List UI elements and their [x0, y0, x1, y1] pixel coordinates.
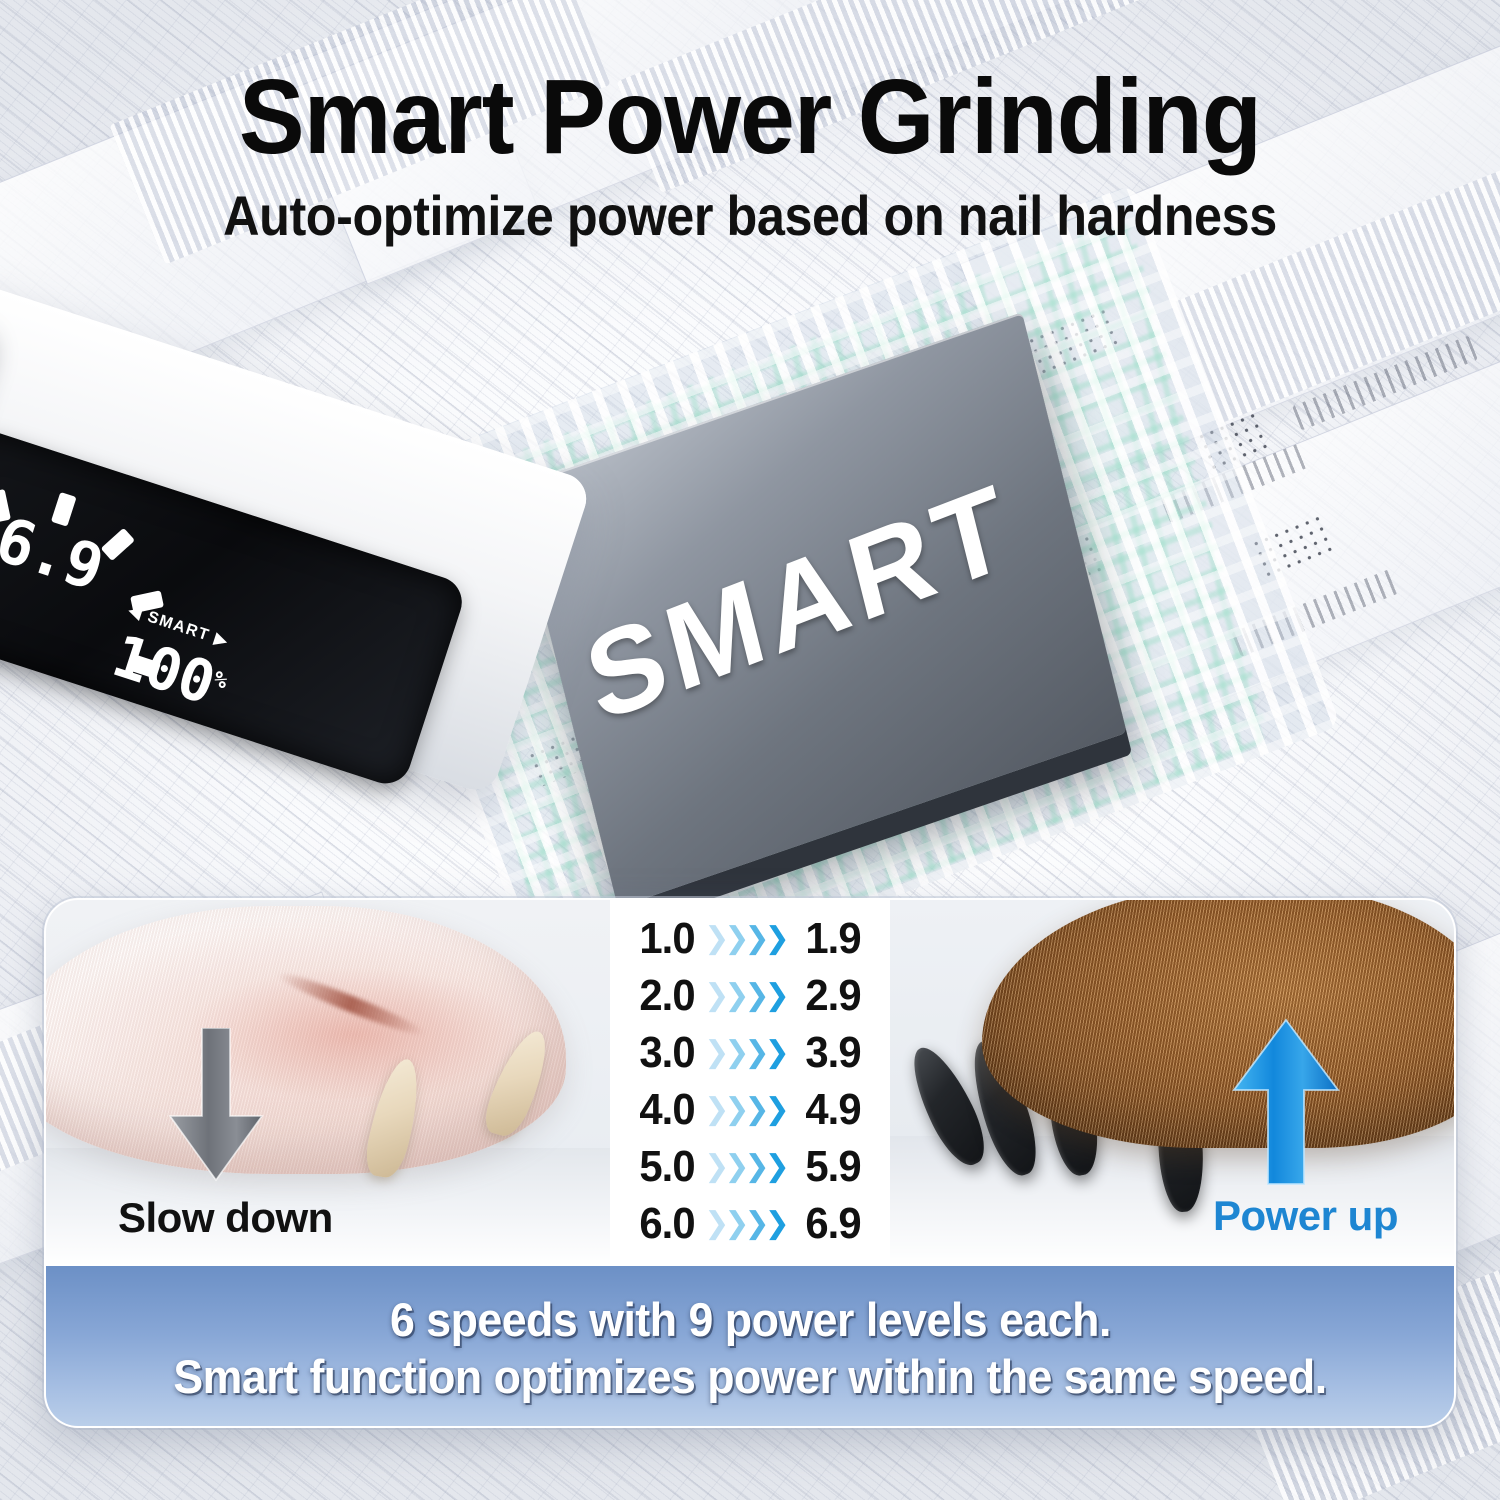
speed-from: 3.0 [632, 1028, 702, 1078]
speed-from: 6.0 [632, 1199, 702, 1249]
speed-from: 1.0 [632, 914, 702, 964]
table-row: 1.0 ❯❯❯❯ 1.9 [610, 910, 889, 967]
speed-from: 4.0 [632, 1085, 702, 1135]
lcd-smart-arrow-right-icon: ▶ [212, 630, 230, 650]
chevron-progression-icon: ❯❯❯❯ [704, 924, 796, 954]
chevron-progression-icon: ❯❯❯❯ [704, 1038, 796, 1068]
page-title: Smart Power Grinding [53, 62, 1448, 173]
chevron-progression-icon: ❯❯❯❯ [704, 1095, 796, 1125]
dog-paw-fur-texture [982, 900, 1454, 1148]
comparison-panel: Slow down 1.0 ❯❯❯❯ 1.9 2.0 ❯❯❯❯ 2.9 3.0 [44, 898, 1456, 1428]
table-row: 3.0 ❯❯❯❯ 3.9 [610, 1024, 889, 1081]
caption-band: 6 speeds with 9 power levels each. Smart… [46, 1266, 1454, 1428]
slow-down-label: Slow down [118, 1194, 333, 1242]
chevron-progression-icon: ❯❯❯❯ [704, 981, 796, 1011]
table-row: 4.0 ❯❯❯❯ 4.9 [610, 1081, 889, 1138]
caption-line-2: Smart function optimizes power within th… [173, 1349, 1326, 1404]
speed-from: 2.0 [632, 971, 702, 1021]
lcd-speed-value: 6.9 [0, 502, 111, 604]
speed-power-table: 1.0 ❯❯❯❯ 1.9 2.0 ❯❯❯❯ 2.9 3.0 ❯❯❯❯ 3.9 [610, 900, 889, 1266]
soft-nail-photo: Slow down [46, 900, 610, 1266]
speed-to: 1.9 [798, 914, 868, 964]
speed-to: 2.9 [798, 971, 868, 1021]
power-up-label: Power up [1213, 1192, 1398, 1240]
speed-to: 3.9 [798, 1028, 868, 1078]
nail-grinder-device: 6.9 ◀ SMART ▶ 100% [0, 300, 640, 940]
caption-line-1: 6 speeds with 9 power levels each. [390, 1292, 1111, 1347]
speed-to: 6.9 [798, 1199, 868, 1249]
table-row: 5.0 ❯❯❯❯ 5.9 [610, 1138, 889, 1195]
puppy-paw-fur-texture [46, 906, 566, 1174]
speed-from: 5.0 [632, 1142, 702, 1192]
chevron-progression-icon: ❯❯❯❯ [704, 1152, 796, 1182]
arrow-up-icon [1230, 1016, 1342, 1188]
arrow-down-icon [166, 1028, 266, 1188]
table-row: 2.0 ❯❯❯❯ 2.9 [610, 967, 889, 1024]
table-row: 6.0 ❯❯❯❯ 6.9 [610, 1195, 889, 1252]
speed-to: 5.9 [798, 1142, 868, 1192]
header-block: Smart Power Grinding Auto-optimize power… [0, 0, 1500, 248]
comparison-row: Slow down 1.0 ❯❯❯❯ 1.9 2.0 ❯❯❯❯ 2.9 3.0 [46, 900, 1454, 1266]
hard-nail-photo: Power up [890, 900, 1454, 1266]
page-subtitle: Auto-optimize power based on nail hardne… [75, 183, 1425, 248]
chevron-progression-icon: ❯❯❯❯ [704, 1209, 796, 1239]
lcd-smart-arrow-left-icon: ◀ [127, 602, 145, 622]
speed-to: 4.9 [798, 1085, 868, 1135]
